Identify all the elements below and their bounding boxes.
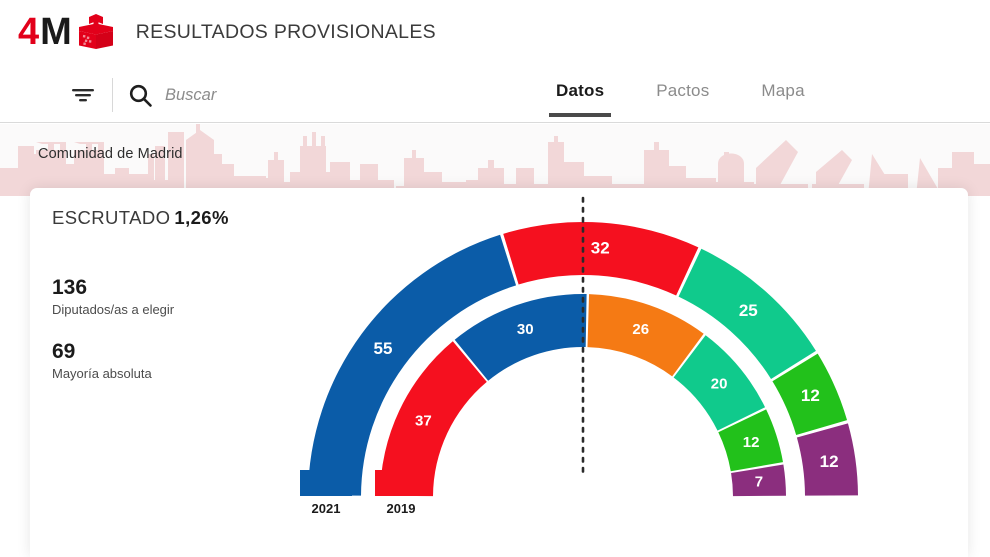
seat-arc-chart: 5532251212 37302620127 20212019	[30, 188, 968, 557]
chart-legend: 20212019	[300, 470, 427, 516]
legend-swatch	[375, 470, 427, 496]
legend-year-label: 2019	[387, 501, 416, 516]
arc-segment-value: 20	[711, 376, 728, 393]
filter-icon[interactable]	[68, 80, 98, 110]
arc-segment[interactable]	[503, 222, 698, 295]
search-input[interactable]	[165, 86, 425, 105]
search-icon[interactable]	[127, 82, 153, 108]
navbar: Datos Pactos Mapa	[0, 64, 990, 123]
page-title: RESULTADOS PROVISIONALES	[136, 21, 436, 44]
legend-year-label: 2021	[312, 501, 341, 516]
ballot-box-icon	[76, 14, 116, 50]
tab-pactos[interactable]: Pactos	[656, 64, 709, 123]
tab-datos-label: Datos	[556, 81, 604, 101]
site-logo[interactable]: 4 M	[18, 13, 116, 51]
arc-segment-value: 12	[743, 434, 760, 451]
arc-segment-value: 7	[755, 473, 763, 490]
legend-swatch	[300, 470, 352, 496]
arc-segment-value: 26	[632, 321, 649, 338]
arc-segment-value: 55	[374, 339, 393, 358]
navbar-search-area	[68, 78, 425, 112]
tab-bar: Datos Pactos Mapa	[556, 64, 805, 123]
tab-mapa-label: Mapa	[761, 81, 804, 101]
arc-segment-value: 25	[739, 301, 758, 320]
nav-divider	[112, 78, 113, 112]
tab-pactos-label: Pactos	[656, 81, 709, 101]
region-name: Comunidad de Madrid	[38, 146, 183, 162]
tab-datos[interactable]: Datos	[556, 64, 604, 123]
arc-segment-value: 37	[415, 413, 432, 430]
tab-mapa[interactable]: Mapa	[761, 64, 804, 123]
arc-segment-value: 12	[820, 452, 839, 471]
page-root: 4 M RESULTADOS PROVISI	[0, 0, 990, 557]
logo-text-4: 4	[18, 13, 38, 51]
logo-text-m: M	[40, 13, 71, 51]
arc-segment-value: 30	[517, 321, 534, 338]
seat-arc-svg: 5532251212 37302620127 20212019	[30, 188, 968, 557]
results-card: ESCRUTADO1,26% 136 Diputados/as a elegir…	[30, 188, 968, 557]
arc-segment-value: 32	[591, 239, 610, 258]
arc-segment-value: 12	[801, 386, 820, 405]
masthead: 4 M RESULTADOS PROVISI	[0, 0, 990, 64]
